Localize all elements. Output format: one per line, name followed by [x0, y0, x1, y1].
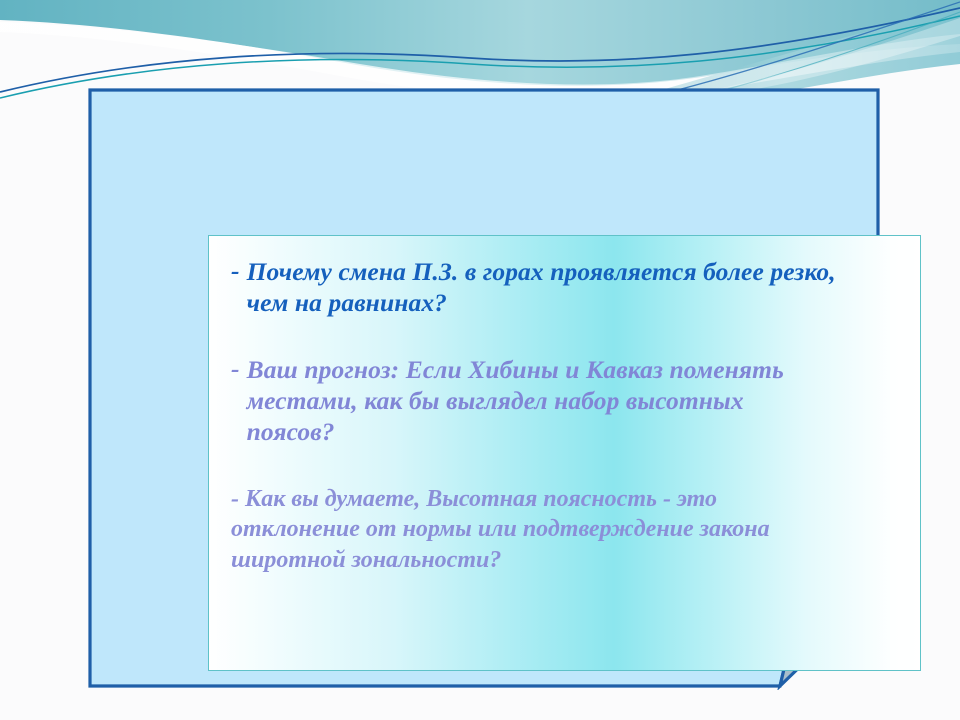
paragraph-1-bullet: - [231, 256, 240, 284]
wave-band-main [0, 0, 960, 86]
paragraph-2-bullet: - [231, 354, 240, 382]
paragraph-3-text: - Как вы думаете, Высотная поясность - э… [231, 486, 770, 573]
paragraph-1-text: Почему смена П.З. в горах проявляется бо… [247, 256, 857, 318]
slide-canvas: - Почему смена П.З. в горах проявляется … [0, 0, 960, 720]
text-frame: - Почему смена П.З. в горах проявляется … [208, 235, 921, 671]
paragraph-1: - Почему смена П.З. в горах проявляется … [231, 256, 898, 318]
wave-band-right [640, 8, 960, 99]
content-card: - Почему смена П.З. в горах проявляется … [88, 88, 880, 690]
wave-line-navy [0, 8, 960, 92]
paragraph-2: - Ваш прогноз: Если Хибины и Кавказ поме… [231, 354, 898, 447]
wave-line-teal [0, 16, 960, 98]
paragraph-3: - Как вы думаете, Высотная поясность - э… [231, 484, 851, 576]
paragraph-2-text: Ваш прогноз: Если Хибины и Кавказ поменя… [247, 354, 815, 447]
